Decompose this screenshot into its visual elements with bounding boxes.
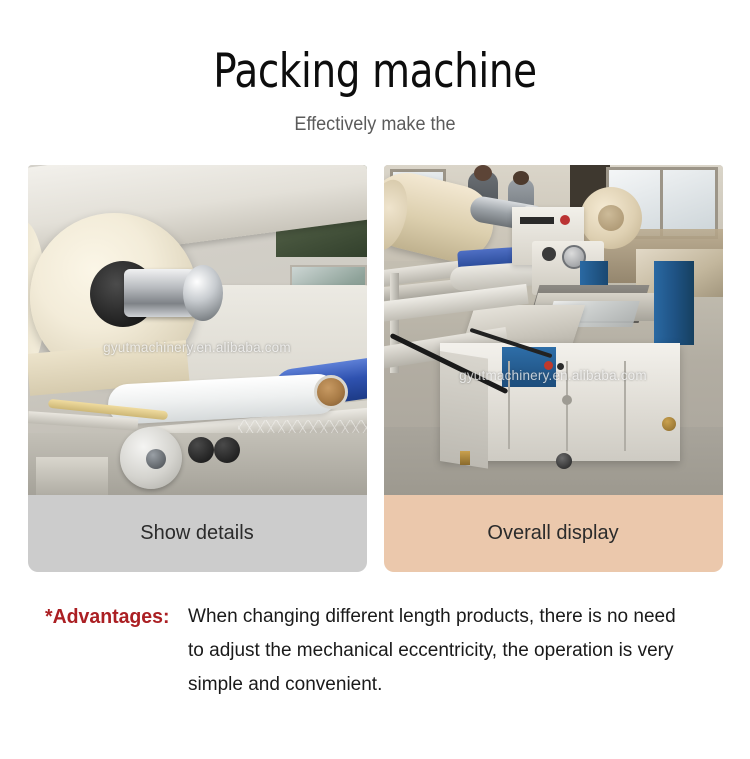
control-panel-display: [520, 217, 554, 224]
cabinet-door-seam-one: [508, 361, 510, 449]
cabinet-handle: [562, 395, 572, 405]
cabinet-door-seam-three: [624, 361, 626, 451]
lower-knob-left: [188, 437, 214, 463]
page-header: Packing machine Effectively make the: [0, 0, 750, 138]
leveling-foot-left: [460, 451, 470, 465]
lower-block: [36, 457, 108, 495]
worker-head-one: [474, 165, 492, 181]
page-subtitle: Effectively make the: [19, 112, 732, 138]
page-title: Packing machine: [30, 44, 720, 100]
blue-bracket: [580, 261, 608, 285]
advantages-text: When changing different length products,…: [188, 600, 696, 702]
lower-drum-center: [146, 449, 166, 469]
advantages-label: *Advantages:: [45, 600, 181, 634]
leveling-foot-right: [662, 417, 676, 431]
card-overall-display[interactable]: gyutmachinery.en.alibaba.com Overall dis…: [384, 165, 723, 572]
product-photo-overall: gyutmachinery.en.alibaba.com: [384, 165, 723, 495]
film-core-end: [314, 375, 348, 409]
caster-wheel: [556, 453, 572, 469]
shaft-end-cap: [183, 265, 223, 321]
card-show-details[interactable]: gyutmachinery.en.alibaba.com Show detail…: [28, 165, 367, 572]
caption-show-details[interactable]: Show details: [28, 495, 367, 572]
paper-disc-center: [598, 205, 624, 231]
worker-head-two: [513, 171, 529, 185]
caption-overall-display[interactable]: Overall display: [384, 495, 723, 572]
control-panel-indicator: [560, 215, 570, 225]
cabinet-door-seam-two: [566, 361, 568, 451]
lower-knob-right: [214, 437, 240, 463]
product-image-cards: gyutmachinery.en.alibaba.com Show detail…: [0, 165, 750, 572]
emergency-stop-button: [544, 361, 553, 370]
product-photo-detail: gyutmachinery.en.alibaba.com: [28, 165, 367, 495]
sealing-head-knob-one: [542, 247, 556, 261]
blue-side-cabinet: [654, 261, 694, 345]
advantages-section: *Advantages: When changing different len…: [0, 600, 750, 702]
control-button: [557, 363, 564, 370]
